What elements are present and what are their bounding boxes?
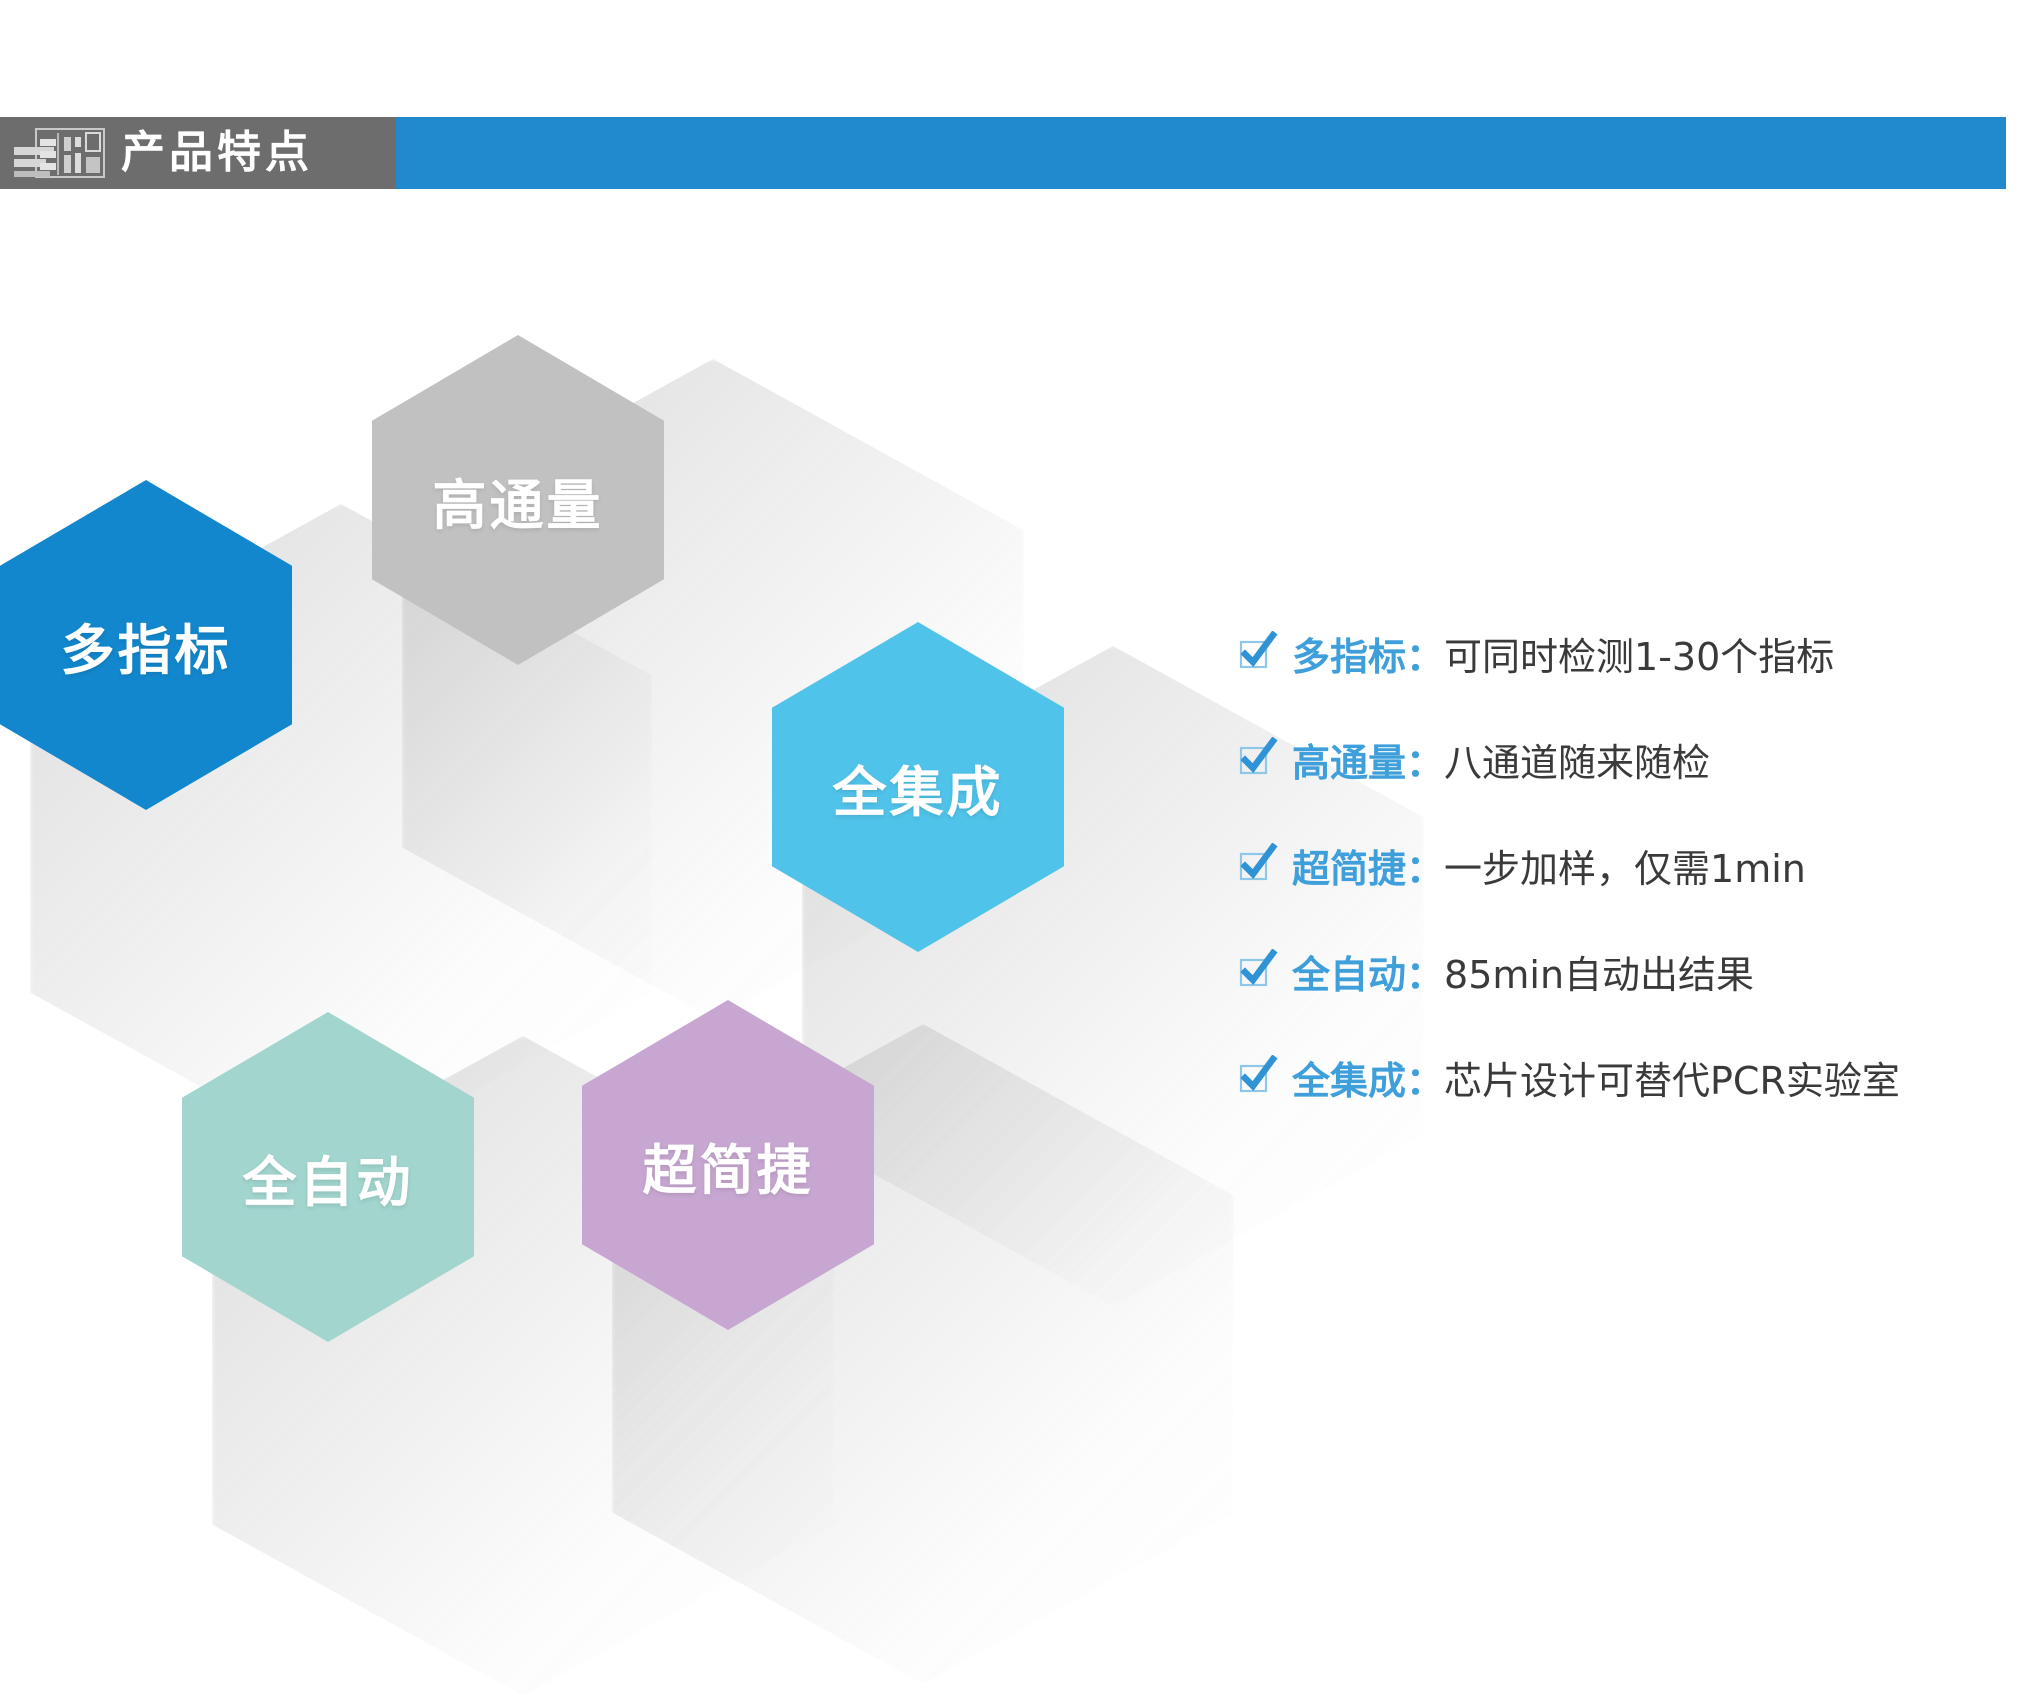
- feature-description: 一步加样，仅需1min: [1444, 838, 1806, 893]
- checkbox-checked-icon: [1238, 843, 1278, 883]
- feature-description: 芯片设计可替代PCR实验室: [1444, 1050, 1900, 1105]
- hexagon-gaotongliang[interactable]: 高通量: [372, 335, 664, 665]
- header-badge: 产品特点: [0, 117, 396, 189]
- feature-row: 超简捷： 一步加样，仅需1min: [1238, 812, 2028, 918]
- feature-row: 全自动：85min自动出结果: [1238, 918, 2028, 1024]
- hexagon-label: 全集成: [833, 748, 1004, 827]
- checkbox-checked-icon: [1238, 1055, 1278, 1095]
- hexagon-quanjicheng[interactable]: 全集成: [772, 622, 1064, 952]
- feature-description: 可同时检测1-30个指标: [1444, 626, 1834, 681]
- circuit-board-icon: [12, 127, 107, 179]
- checkbox-checked-icon: [1238, 737, 1278, 777]
- feature-term: 全集成：: [1292, 1050, 1444, 1105]
- feature-term: 高通量：: [1292, 732, 1444, 787]
- hexagon-label: 高通量: [433, 461, 604, 540]
- feature-description: 八通道随来随检: [1444, 732, 1710, 787]
- hexagon-label: 多指标: [61, 606, 232, 685]
- feature-description: 85min自动出结果: [1444, 944, 1754, 999]
- feature-term: 全自动：: [1292, 944, 1444, 999]
- feature-list: 多指标： 可同时检测1-30个指标高通量：八通道随来随检超简捷： 一步加样，仅需…: [1238, 600, 2028, 1130]
- hexagon-quanzidong[interactable]: 全自动: [182, 1012, 474, 1342]
- page-header: 产品特点: [0, 117, 2006, 189]
- feature-term: 超简捷：: [1292, 838, 1444, 893]
- feature-row: 高通量：八通道随来随检: [1238, 706, 2028, 812]
- feature-row: 多指标： 可同时检测1-30个指标: [1238, 600, 2028, 706]
- hexagon-chaojianjie[interactable]: 超简捷: [582, 1000, 874, 1330]
- hexagon-duozhibiao[interactable]: 多指标: [0, 480, 292, 810]
- feature-term: 多指标：: [1292, 626, 1444, 681]
- feature-row: 全集成：芯片设计可替代PCR实验室: [1238, 1024, 2028, 1130]
- hexagon-label: 全自动: [243, 1138, 414, 1217]
- checkbox-checked-icon: [1238, 949, 1278, 989]
- hexagon-feature-diagram: 多指标高通量全集成全自动超简捷: [0, 300, 1150, 1420]
- header-title: 产品特点: [121, 131, 313, 175]
- hexagon-label: 超简捷: [643, 1126, 814, 1205]
- checkbox-checked-icon: [1238, 631, 1278, 671]
